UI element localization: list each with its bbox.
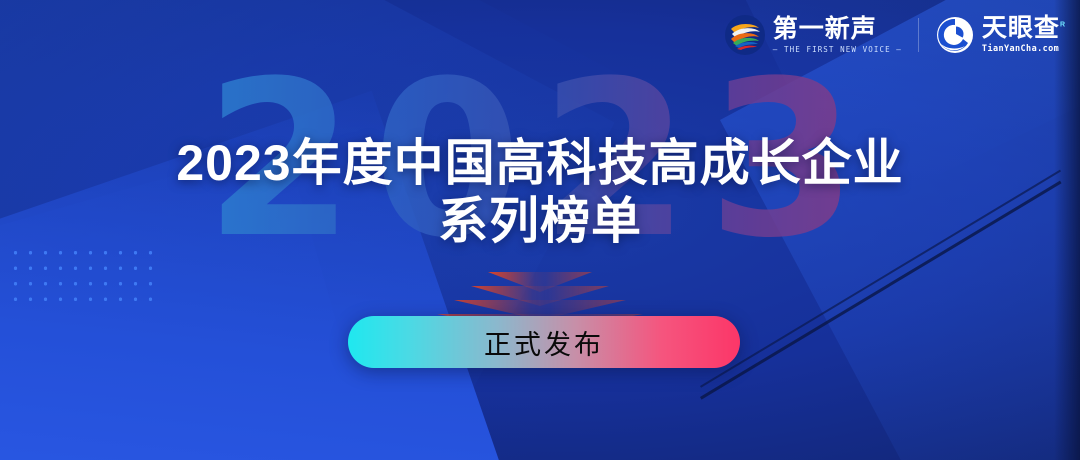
registered-trademark-icon: R bbox=[1060, 22, 1066, 29]
aperture-eye-icon bbox=[935, 15, 975, 55]
logo-group: 第一新声 — THE FIRST NEW VOICE — 天眼查R TianYa… bbox=[724, 14, 1066, 56]
logo-tianyancha-text: 天眼查R TianYanCha.com bbox=[982, 16, 1066, 54]
release-badge-label: 正式发布 bbox=[484, 323, 604, 362]
logo-tianyancha-cn: 天眼查R bbox=[982, 16, 1066, 41]
logo-diyixinsheng-cn: 第一新声 bbox=[773, 17, 902, 42]
logo-tianyancha[interactable]: 天眼查R TianYanCha.com bbox=[935, 15, 1066, 55]
headline-line-2: 系列榜单 bbox=[0, 192, 1080, 250]
logo-tianyancha-en: TianYanCha.com bbox=[982, 45, 1066, 54]
headline-line-1: 2023年度中国高科技高成长企业 bbox=[0, 134, 1080, 192]
promo-banner: 2023 2023年度中国高科技高成长企业 系列榜单 正式发布 第一新声 — T… bbox=[0, 0, 1080, 460]
release-badge[interactable]: 正式发布 bbox=[348, 316, 740, 368]
page-title: 2023年度中国高科技高成长企业 系列榜单 bbox=[0, 134, 1080, 250]
logo-divider bbox=[918, 18, 919, 52]
logo-diyixinsheng[interactable]: 第一新声 — THE FIRST NEW VOICE — bbox=[724, 14, 902, 56]
ribbon-swirl-icon bbox=[724, 14, 766, 56]
logo-diyixinsheng-text: 第一新声 — THE FIRST NEW VOICE — bbox=[773, 17, 902, 54]
logo-tianyancha-cn-label: 天眼查 bbox=[982, 14, 1060, 42]
logo-diyixinsheng-en: — THE FIRST NEW VOICE — bbox=[773, 46, 902, 54]
